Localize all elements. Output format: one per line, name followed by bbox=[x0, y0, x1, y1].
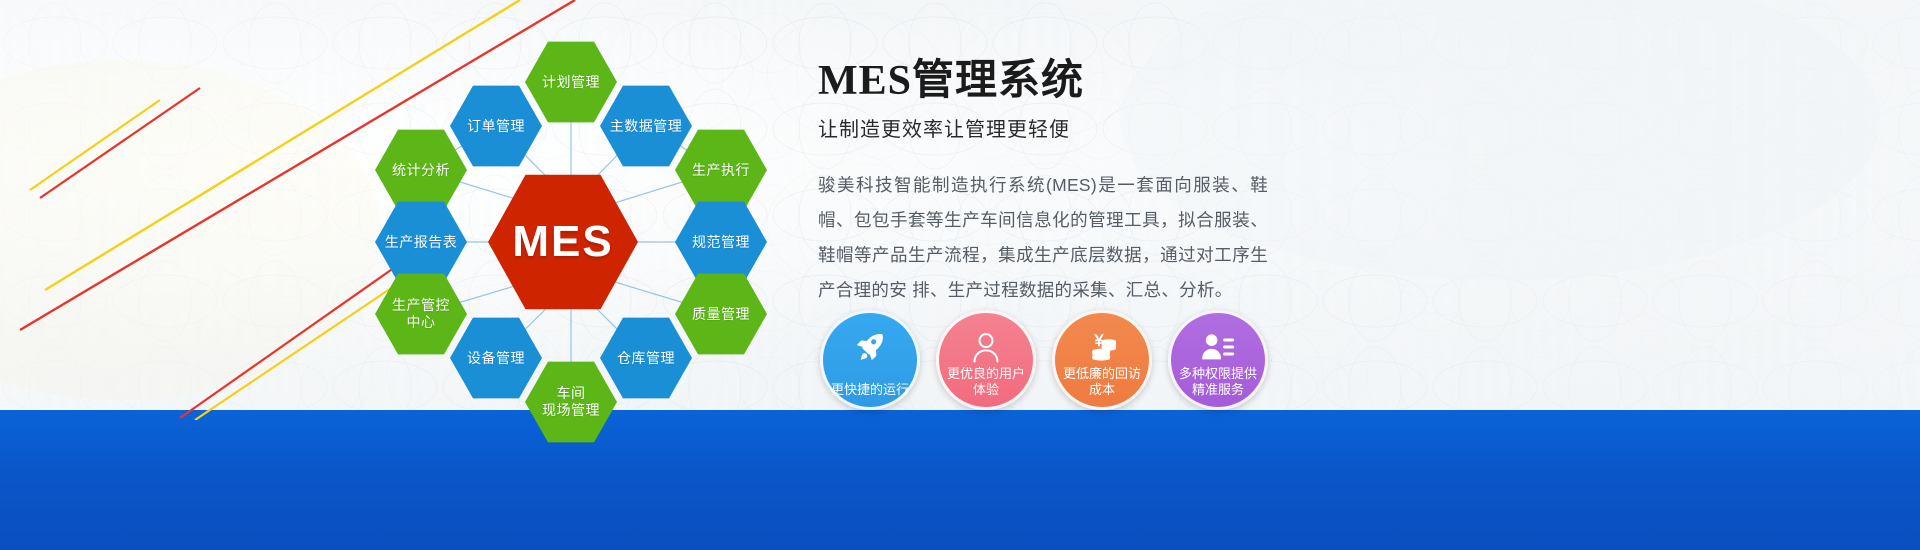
feature-badge[interactable]: 更快捷的运行 bbox=[820, 310, 920, 410]
hexagon-node-label: 统计分析 bbox=[386, 162, 456, 179]
hexagon-node-label: 车间现场管理 bbox=[536, 385, 606, 418]
feature-badge[interactable]: 更低廉的回访成本 bbox=[1052, 310, 1152, 410]
feature-badge-label: 更低廉的回访成本 bbox=[1056, 366, 1148, 399]
hexagon-node-label: 主数据管理 bbox=[604, 118, 689, 135]
feature-badge-label: 更优良的用户体验 bbox=[940, 366, 1032, 399]
user-list-icon bbox=[1201, 330, 1235, 364]
hexagon-node-label: 生产执行 bbox=[686, 162, 756, 179]
user-icon bbox=[969, 330, 1003, 364]
hexagon-node-label: 生产报告表 bbox=[379, 234, 464, 251]
banner-content: MES管理系统 让制造更效率让管理更轻便 骏美科技智能制造执行系统(MES)是一… bbox=[818, 58, 1338, 308]
feature-badge-label: 更快捷的运行 bbox=[824, 382, 916, 398]
hexagon-node-label: 设备管理 bbox=[461, 350, 531, 367]
page-description: 骏美科技智能制造执行系统(MES)是一套面向服装、鞋帽、包包手套等生产车间信息化… bbox=[818, 168, 1268, 308]
mes-banner: 计划管理订单管理主数据管理统计分析生产执行生产报告表规范管理生产管控中心质量管理… bbox=[0, 0, 1920, 550]
mes-hexagon-diagram: 计划管理订单管理主数据管理统计分析生产执行生产报告表规范管理生产管控中心质量管理… bbox=[330, 10, 800, 450]
hexagon-node-label: 生产管控中心 bbox=[386, 297, 456, 330]
page-title: MES管理系统 bbox=[818, 58, 1338, 105]
rocket-icon bbox=[853, 330, 887, 364]
background-blue-band bbox=[0, 410, 1920, 550]
hexagon-node-label: 计划管理 bbox=[536, 74, 606, 91]
hexagon-node-label: 规范管理 bbox=[686, 234, 756, 251]
page-subtitle: 让制造更效率让管理更轻便 bbox=[818, 113, 1338, 142]
feature-badge-label: 多种权限提供精准服务 bbox=[1172, 366, 1264, 399]
hexagon-center-label: MES bbox=[506, 216, 619, 268]
hexagon-node-label: 质量管理 bbox=[686, 306, 756, 323]
feature-badge[interactable]: 多种权限提供精准服务 bbox=[1168, 310, 1268, 410]
hexagon-node-label: 订单管理 bbox=[461, 118, 531, 135]
feature-badge[interactable]: 更优良的用户体验 bbox=[936, 310, 1036, 410]
hexagon-node-label: 仓库管理 bbox=[611, 350, 681, 367]
money-stack-icon bbox=[1085, 330, 1119, 364]
feature-badge-list: 更快捷的运行更优良的用户体验更低廉的回访成本多种权限提供精准服务 bbox=[820, 310, 1268, 410]
